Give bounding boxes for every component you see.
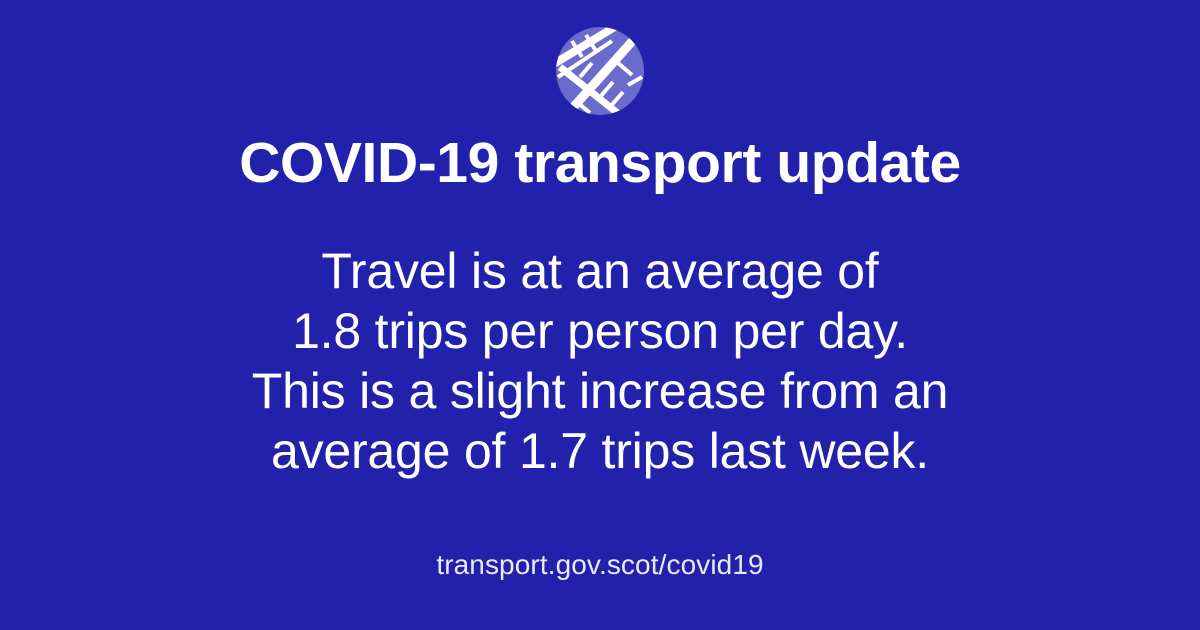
footer-url[interactable]: transport.gov.scot/covid19 xyxy=(0,548,1200,582)
page-title: COVID-19 transport update xyxy=(239,133,961,195)
message-line: This is a slight increase from an xyxy=(252,361,948,421)
transport-scotland-roads-logo-icon xyxy=(556,27,644,115)
message-line: Travel is at an average of xyxy=(252,241,948,301)
message-line: 1.8 trips per person per day. xyxy=(252,301,948,361)
message-body: Travel is at an average of 1.8 trips per… xyxy=(252,241,948,481)
covid-transport-update-card: COVID-19 transport update Travel is at a… xyxy=(0,0,1200,630)
message-line: average of 1.7 trips last week. xyxy=(252,421,948,481)
